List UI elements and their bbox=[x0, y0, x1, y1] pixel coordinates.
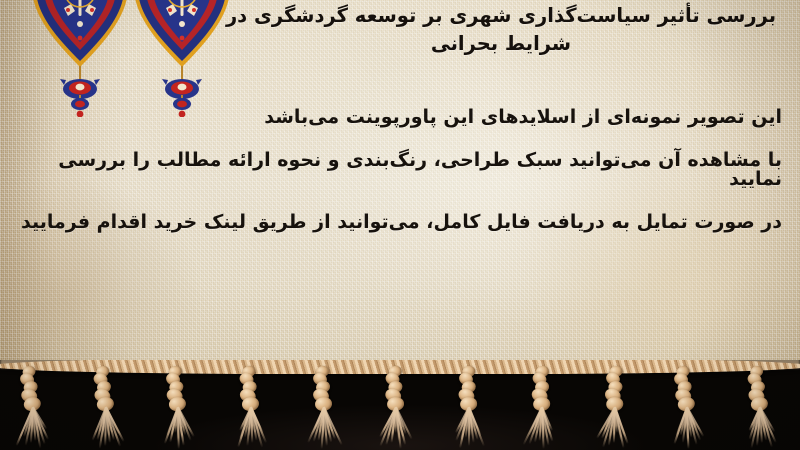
tassel bbox=[379, 364, 414, 450]
tassel-fringe-threads bbox=[672, 406, 707, 450]
tassel-fringe-threads bbox=[745, 406, 779, 450]
tassel-fringe-threads bbox=[309, 407, 341, 450]
tassel bbox=[523, 363, 561, 450]
persian-medallion-ornament-left bbox=[28, 0, 132, 121]
body-line-1: این تصویر نمونه‌ای از اسلایدهای این پاور… bbox=[12, 108, 782, 127]
tassel bbox=[451, 363, 488, 450]
carpet-tassel-fringe bbox=[0, 360, 800, 450]
tassel bbox=[233, 364, 268, 450]
tassel bbox=[595, 363, 635, 450]
body-line-2: با مشاهده آن می‌توانید سبک طراحی، رنگ‌بن… bbox=[12, 151, 782, 189]
medallion-left-svg bbox=[28, 0, 132, 117]
tassel-fringe-threads bbox=[453, 406, 487, 450]
tassel bbox=[741, 363, 779, 450]
tassel bbox=[160, 363, 197, 450]
tassel bbox=[667, 363, 707, 450]
tassel-fringe-threads bbox=[18, 406, 53, 450]
tassel-fringe-threads bbox=[91, 406, 125, 450]
slide-body: این تصویر نمونه‌ای از اسلایدهای این پاور… bbox=[12, 108, 782, 256]
body-line-3: در صورت تمایل به دریافت فایل کامل، می‌تو… bbox=[12, 213, 782, 232]
tassel bbox=[13, 363, 53, 450]
tassel-fringe-threads bbox=[381, 407, 414, 450]
slide-title: بررسی تأثیر سیاست‌گذاری شهری بر توسعه گر… bbox=[216, 2, 786, 57]
presentation-slide: بررسی تأثیر سیاست‌گذاری شهری بر توسعه گر… bbox=[0, 0, 800, 450]
tassel bbox=[86, 363, 124, 450]
tassel bbox=[307, 364, 341, 450]
tassel-fringe-threads bbox=[597, 406, 632, 450]
tassel-fringe-threads bbox=[236, 407, 269, 450]
tassel-fringe-threads bbox=[163, 406, 197, 450]
tassel-fringe-threads bbox=[525, 406, 559, 450]
